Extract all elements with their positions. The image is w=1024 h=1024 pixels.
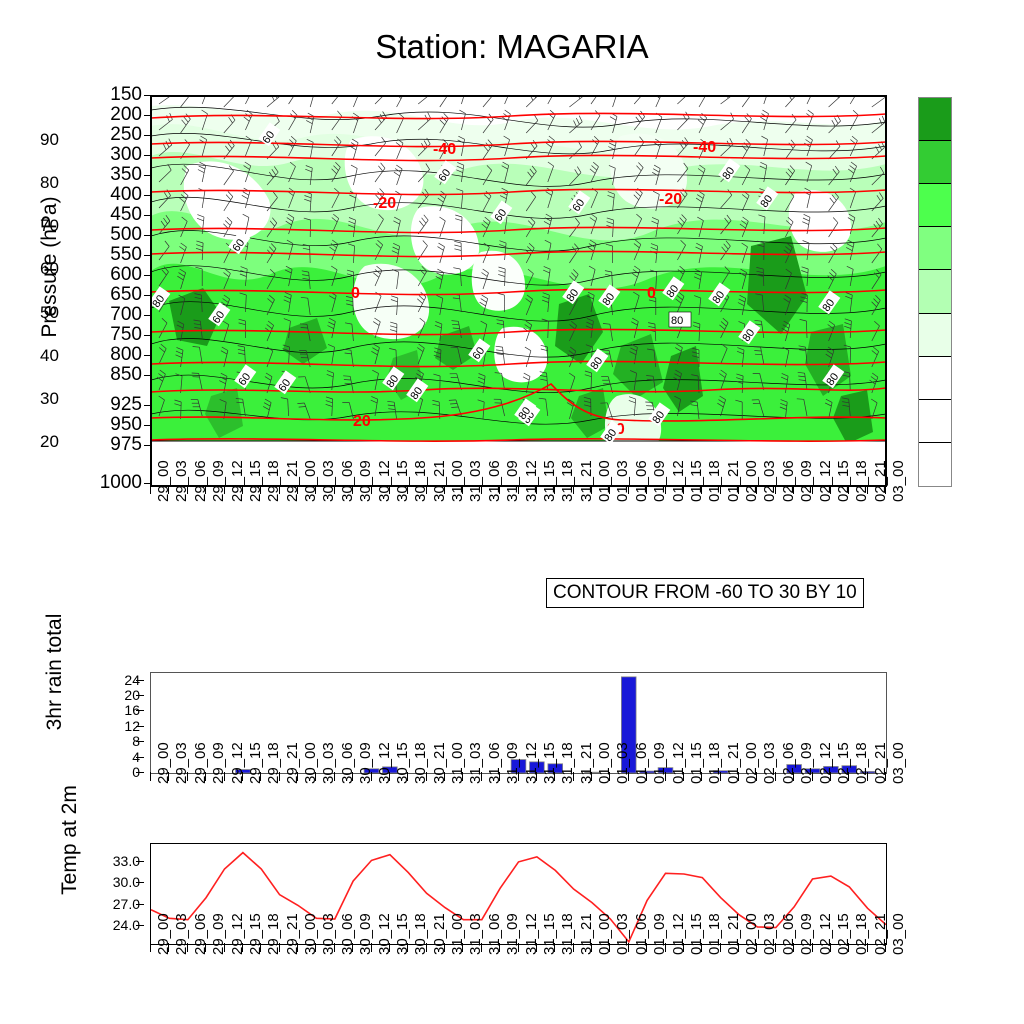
main-x-label-31_03: 31_03 [467,460,484,502]
temp-x-label-31_00: 31_00 [449,913,466,955]
main-y-tick-600: 600 [82,265,142,284]
rain-x-label-29_12: 29_12 [229,742,246,784]
main-x-label-31_15: 31_15 [541,460,558,502]
temp-x-label-02_03: 02_03 [761,913,778,955]
temp-label-zero-a: 0 [351,285,360,302]
rain-x-label-31_00: 31_00 [449,742,466,784]
main-x-tick-labels: 29_0029_0329_0629_0929_1229_1529_1829_21… [0,500,1024,570]
rain-x-label-01_15: 01_15 [688,742,705,784]
temp-x-label-03_00: 03_00 [890,913,907,955]
temp-y-tick-labels: 24.027.030.033.0 [80,838,140,948]
main-y-tick-300: 300 [82,145,142,164]
main-x-label-29_09: 29_09 [210,460,227,502]
main-x-label-01_21: 01_21 [725,460,742,502]
temp-y-tickmark [136,925,144,926]
wind-barb-flag [754,351,761,352]
main-y-tick-labels: 1502002503003504004505005506006507007508… [78,95,142,485]
rain-x-label-30_18: 30_18 [412,742,429,784]
rain-y-tickmark [136,726,144,727]
temp-x-label-01_21: 01_21 [725,913,742,955]
main-x-label-01_15: 01_15 [688,460,705,502]
main-x-label-29_12: 29_12 [229,460,246,502]
temp-x-label-29_03: 29_03 [173,913,190,955]
main-x-label-31_06: 31_06 [486,460,503,502]
main-x-label-31_00: 31_00 [449,460,466,502]
main-x-label-29_15: 29_15 [247,460,264,502]
rain-x-label-01_06: 01_06 [633,742,650,784]
main-x-label-29_21: 29_21 [284,460,301,502]
temp-x-label-29_15: 29_15 [247,913,264,955]
rain-x-label-29_06: 29_06 [192,742,209,784]
temp-x-label-02_21: 02_21 [872,913,889,955]
temp-x-tick-labels: 29_0029_0329_0629_0929_1229_1529_1829_21… [0,953,1024,1015]
rain-x-label-01_03: 01_03 [614,742,631,784]
temp-x-label-30_15: 30_15 [394,913,411,955]
main-y-tick-975: 975 [82,435,142,454]
colorbar-label-80: 80 [40,173,59,193]
main-x-label-31_21: 31_21 [578,460,595,502]
rain-x-label-29_03: 29_03 [173,742,190,784]
temp-x-label-31_06: 31_06 [486,913,503,955]
rain-y-tickmark [136,695,144,696]
temp-y-tickmark [136,904,144,905]
colorbar-label-70: 70 [40,216,59,236]
rain-x-label-30_06: 30_06 [339,742,356,784]
humidity-temperature-contour-plot[interactable]: -40 -40 -20 -20 0 0 20 20 60 60 60 80 80… [150,95,887,487]
rain-x-label-31_06: 31_06 [486,742,503,784]
colorbar-cell-1[interactable] [919,141,951,184]
temp-x-label-02_12: 02_12 [817,913,834,955]
contour-svg: -40 -40 -20 -20 0 0 20 20 60 60 60 80 80… [151,96,886,486]
temp-y-tick-33.0: 33.0 [82,853,140,869]
rain-x-label-01_00: 01_00 [596,742,613,784]
colorbar-label-90: 90 [40,130,59,150]
main-y-tick-1000: 1000 [82,473,142,492]
wind-barb-flag [754,347,761,348]
rain-y-tick-labels: 04812162024 [88,666,140,778]
temp-x-label-01_18: 01_18 [706,913,723,955]
main-x-label-01_06: 01_06 [633,460,650,502]
temp-x-label-31_03: 31_03 [467,913,484,955]
main-y-tick-800: 800 [82,345,142,364]
wind-barb-flag [300,324,307,325]
main-x-label-30_03: 30_03 [320,460,337,502]
temp-y-tick-30.0: 30.0 [82,874,140,890]
wind-barb-flag [755,354,762,355]
rain-x-label-30_03: 30_03 [320,742,337,784]
temp-y-tick-24.0: 24.0 [82,917,140,933]
temp-x-label-31_12: 31_12 [523,913,540,955]
temp-x-label-01_09: 01_09 [651,913,668,955]
rain-x-label-29_15: 29_15 [247,742,264,784]
main-x-label-02_21: 02_21 [872,460,889,502]
rain-x-label-30_12: 30_12 [376,742,393,784]
rain-x-label-02_18: 02_18 [853,742,870,784]
temp-label-neg40-a: -40 [433,141,456,158]
temp-x-label-01_12: 01_12 [670,913,687,955]
temp-label-zero-b: 0 [647,285,656,302]
main-x-label-31_18: 31_18 [559,460,576,502]
main-y-tick-550: 550 [82,245,142,264]
rain-x-tick-labels: 29_0029_0329_0629_0929_1229_1529_1829_21… [0,782,1024,844]
rain-y-tick-16: 16 [90,702,140,718]
main-x-label-02_18: 02_18 [853,460,870,502]
main-x-label-01_18: 01_18 [706,460,723,502]
rain-y-tick-8: 8 [90,733,140,749]
temp-x-label-30_00: 30_00 [302,913,319,955]
main-y-tick-925: 925 [82,395,142,414]
main-x-label-30_12: 30_12 [376,460,393,502]
temp-x-label-02_18: 02_18 [853,913,870,955]
main-y-tick-850: 850 [82,365,142,384]
temp-label-neg20-b: -20 [659,191,682,208]
main-x-label-01_12: 01_12 [670,460,687,502]
rain-y-tick-24: 24 [90,672,140,688]
temp-label-neg40-b: -40 [693,139,716,156]
rain-y-tickmark [136,772,144,773]
temp-x-label-29_21: 29_21 [284,913,301,955]
colorbar-label-60: 60 [40,259,59,279]
wind-barb-flag [449,400,456,401]
rain-x-label-31_21: 31_21 [578,742,595,784]
colorbar-cell-2[interactable] [919,184,951,227]
colorbar-cell-4[interactable] [919,270,951,313]
main-x-label-02_06: 02_06 [780,460,797,502]
main-x-label-29_00: 29_00 [155,460,172,502]
rain-x-label-30_15: 30_15 [394,742,411,784]
temp-x-label-30_21: 30_21 [431,913,448,955]
temp-x-label-01_15: 01_15 [688,913,705,955]
rain-x-label-30_21: 30_21 [431,742,448,784]
temp-x-label-01_03: 01_03 [614,913,631,955]
main-x-tickmark [150,485,151,494]
main-x-label-01_03: 01_03 [614,460,631,502]
wind-barb-flag [450,404,457,405]
colorbar-label-20: 20 [40,432,59,452]
main-y-tick-950: 950 [82,415,142,434]
svg-text:80: 80 [671,315,683,327]
temp-x-label-29_06: 29_06 [192,913,209,955]
temp-x-label-29_00: 29_00 [155,913,172,955]
rain-x-label-29_09: 29_09 [210,742,227,784]
rain-x-label-31_03: 31_03 [467,742,484,784]
temp-x-label-31_09: 31_09 [504,913,521,955]
rain-x-tickmark [150,772,151,781]
temp-x-label-30_18: 30_18 [412,913,429,955]
temp-y-tickmark [136,861,144,862]
rain-x-label-29_18: 29_18 [265,742,282,784]
main-x-label-29_06: 29_06 [192,460,209,502]
temp-label-20-a: 20 [353,413,371,430]
rain-x-label-02_00: 02_00 [743,742,760,784]
colorbar-label-30: 30 [40,389,59,409]
temp-x-label-01_00: 01_00 [596,913,613,955]
temp-x-label-01_06: 01_06 [633,913,650,955]
temp-y-tickmark [136,882,144,883]
temp-x-label-02_15: 02_15 [835,913,852,955]
main-y-tick-350: 350 [82,165,142,184]
main-x-label-02_00: 02_00 [743,460,760,502]
temp-y-tick-27.0: 27.0 [82,896,140,912]
rain-x-label-31_15: 31_15 [541,742,558,784]
main-x-label-01_00: 01_00 [596,460,613,502]
colorbar-label-50: 50 [40,303,59,323]
colorbar-label-40: 40 [40,346,59,366]
main-x-label-31_09: 31_09 [504,460,521,502]
rain-x-label-03_00: 03_00 [890,742,907,784]
main-x-label-30_09: 30_09 [357,460,374,502]
main-y-tick-750: 750 [82,325,142,344]
wind-barb-flag [344,380,351,381]
temp-x-label-30_06: 30_06 [339,913,356,955]
main-x-label-30_06: 30_06 [339,460,356,502]
wind-barb-flag [345,383,352,384]
temp-x-label-02_06: 02_06 [780,913,797,955]
temp-x-tickmark [150,943,151,952]
rain-y-tickmark [136,741,144,742]
main-x-label-02_15: 02_15 [835,460,852,502]
humidity-colorbar[interactable] [918,97,952,487]
main-y-tick-200: 200 [82,105,142,124]
rain-x-label-02_03: 02_03 [761,742,778,784]
main-y-tick-500: 500 [82,225,142,244]
main-x-label-30_00: 30_00 [302,460,319,502]
rain-x-label-30_09: 30_09 [357,742,374,784]
main-x-label-29_03: 29_03 [173,460,190,502]
wind-barb-flag [343,376,350,377]
colorbar-cell-8[interactable] [919,443,951,486]
temp-x-label-29_18: 29_18 [265,913,282,955]
temp-x-label-30_09: 30_09 [357,913,374,955]
main-y-tick-650: 650 [82,285,142,304]
main-y-tick-450: 450 [82,205,142,224]
rain-x-label-01_09: 01_09 [651,742,668,784]
colorbar-cell-7[interactable] [919,400,951,443]
temp-x-label-02_00: 02_00 [743,913,760,955]
temp-y-axis-label: Temp at 2m [58,725,82,955]
main-x-label-01_09: 01_09 [651,460,668,502]
rain-y-tickmark [136,710,144,711]
rain-x-label-02_21: 02_21 [872,742,889,784]
main-y-tick-700: 700 [82,305,142,324]
temp-label-neg20-a: -20 [373,195,396,212]
temp-x-label-02_09: 02_09 [798,913,815,955]
main-x-label-02_03: 02_03 [761,460,778,502]
temp-x-label-30_03: 30_03 [320,913,337,955]
main-x-label-29_18: 29_18 [265,460,282,502]
main-x-label-30_15: 30_15 [394,460,411,502]
temp-x-label-30_12: 30_12 [376,913,393,955]
colorbar-cell-0[interactable] [919,98,951,141]
rain-y-tick-20: 20 [90,687,140,703]
main-x-label-30_21: 30_21 [431,460,448,502]
rain-y-tickmark [136,757,144,758]
rain-x-label-31_09: 31_09 [504,742,521,784]
rain-x-label-30_00: 30_00 [302,742,319,784]
rain-y-tick-4: 4 [90,749,140,765]
rain-x-label-02_12: 02_12 [817,742,834,784]
temp-x-label-31_18: 31_18 [559,913,576,955]
rain-x-label-31_18: 31_18 [559,742,576,784]
rain-x-label-01_12: 01_12 [670,742,687,784]
main-x-label-02_09: 02_09 [798,460,815,502]
colorbar-cell-6[interactable] [919,357,951,400]
main-y-tick-400: 400 [82,185,142,204]
main-y-tick-150: 150 [82,85,142,104]
page-title: Station: MAGARIA [0,28,1024,66]
contour-note: CONTOUR FROM -60 TO 30 BY 10 [546,578,864,608]
main-x-label-30_18: 30_18 [412,460,429,502]
temp-x-label-29_09: 29_09 [210,913,227,955]
rain-x-label-02_06: 02_06 [780,742,797,784]
wind-barb-flag [451,407,458,408]
colorbar-cell-5[interactable] [919,314,951,357]
temp-x-label-31_21: 31_21 [578,913,595,955]
temp-x-label-29_12: 29_12 [229,913,246,955]
rain-x-label-01_21: 01_21 [725,742,742,784]
rain-x-label-02_15: 02_15 [835,742,852,784]
rain-y-tickmark [136,680,144,681]
rain-x-label-29_00: 29_00 [155,742,172,784]
wind-barb-flag [797,399,804,400]
colorbar-cell-3[interactable] [919,227,951,270]
main-y-tick-250: 250 [82,125,142,144]
rain-x-label-02_09: 02_09 [798,742,815,784]
main-x-label-03_00: 03_00 [890,460,907,502]
rain-x-label-31_12: 31_12 [523,742,540,784]
main-x-label-02_12: 02_12 [817,460,834,502]
rain-x-label-29_21: 29_21 [284,742,301,784]
temp-x-label-31_15: 31_15 [541,913,558,955]
rain-y-tick-0: 0 [90,764,140,780]
rain-x-label-01_18: 01_18 [706,742,723,784]
rain-y-tick-12: 12 [90,718,140,734]
wind-barb-flag [301,328,308,329]
main-x-label-31_12: 31_12 [523,460,540,502]
